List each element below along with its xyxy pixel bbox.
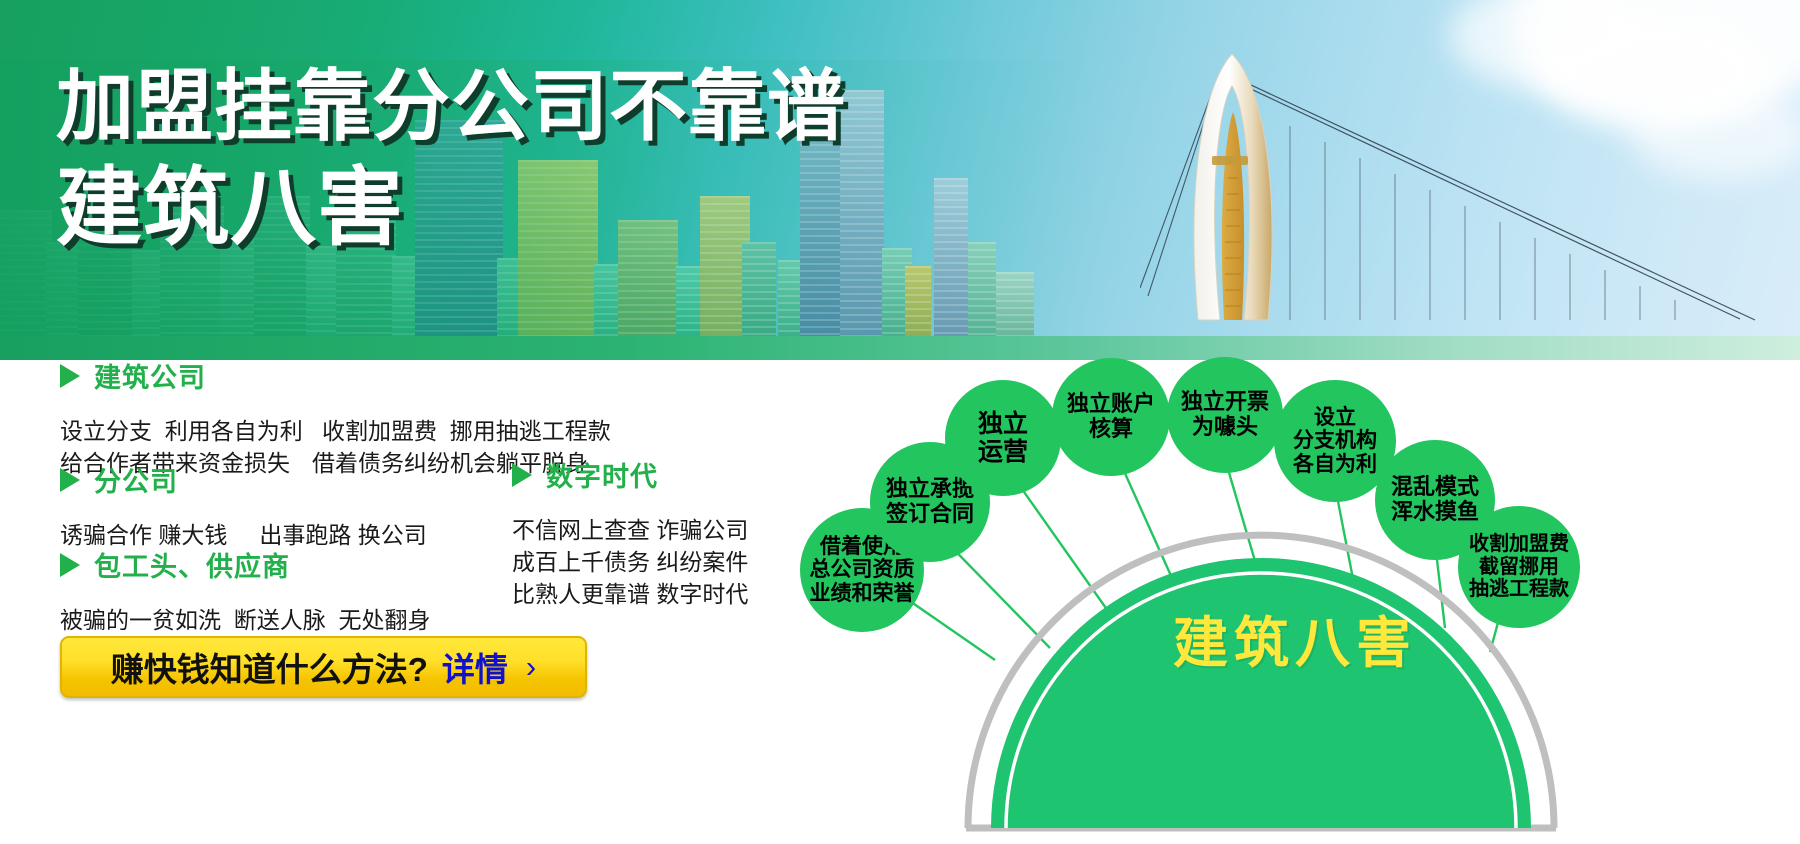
bubble-independent-account[interactable]: 独立账户 核算 [1052,358,1170,476]
bubble-line: 签订合同 [886,502,974,527]
bubble-line: 设立 [1314,406,1356,430]
triangle-bullet-icon [60,468,80,492]
bubble-line: 截留挪用 [1479,556,1559,578]
cta-question-text: 赚快钱知道什么方法? [111,643,428,691]
triangle-bullet-icon [512,463,532,487]
section-line: 成百上千债务 纠纷案件 [512,546,792,578]
section-header: 数字时代 [512,455,792,494]
bubble-line: 浑水摸鱼 [1391,500,1479,525]
triangle-bullet-icon [60,553,80,577]
bridge-illustration [1140,38,1760,338]
bubble-line: 运营 [978,438,1028,466]
bubble-independent-operation[interactable]: 独立 运营 [945,380,1061,496]
hero-title: 加盟挂靠分公司不靠谱 建筑八害 [56,60,846,258]
hero-title-line1: 加盟挂靠分公司不靠谱 [56,60,846,152]
bubble-line: 分支机构 [1293,429,1377,453]
bubble-line: 独立开票 [1181,390,1269,415]
section-title: 数字时代 [546,455,658,494]
bubble-line: 为噱头 [1192,415,1258,440]
section-contractor-supplier: 包工头、供应商 被骗的一贫如洗 断送人脉 无处翻身 [60,545,580,636]
triangle-bullet-icon [60,364,80,388]
section-header: 包工头、供应商 [60,545,580,584]
bubble-line: 各自为利 [1293,453,1377,477]
section-title: 建筑公司 [94,356,206,395]
bubble-line: 总公司资质 [810,558,915,582]
section-digital-era: 数字时代 不信网上查查 诈骗公司 成百上千债务 纠纷案件 比熟人更靠谱 数字时代 [512,455,792,610]
section-title: 分公司 [94,460,178,499]
section-body: 被骗的一贫如洗 断送人脉 无处翻身 [60,604,580,636]
dome-center-label: 建筑八害 [790,598,1800,678]
section-branch-company: 分公司 诱骗合作 赚大钱 出事跑路 换公司 [60,460,520,551]
bubble-line: 抽逃工程款 [1469,578,1569,600]
bubble-line: 核算 [1089,417,1133,442]
bubble-line: 收割加盟费 [1469,533,1569,555]
section-line: 被骗的一贫如洗 断送人脉 无处翻身 [60,604,580,636]
section-header: 分公司 [60,460,520,499]
bubble-line: 业绩和荣誉 [810,582,915,606]
cta-details-link[interactable]: 详情 [442,643,508,691]
bubble-line: 独立账户 [1067,392,1155,417]
hero-title-line2: 建筑八害 [56,158,846,258]
bubble-line: 独立承揽 [886,477,974,502]
section-line: 设立分支 利用各自为利 收割加盟费 挪用抽逃工程款 [60,415,580,447]
bubble-line: 独立 [978,410,1028,438]
bubble-harvest-fees[interactable]: 收割加盟费 截留挪用 抽逃工程款 [1458,506,1580,628]
chevron-right-icon: › [526,649,536,685]
hero-banner: 加盟挂靠分公司不靠谱 建筑八害 [0,0,1800,360]
bubble-independent-invoice[interactable]: 独立开票 为噱头 [1167,357,1283,473]
section-body: 不信网上查查 诈骗公司 成百上千债务 纠纷案件 比熟人更靠谱 数字时代 [512,514,792,610]
section-line: 不信网上查查 诈骗公司 [512,514,792,546]
bubble-line: 混乱模式 [1391,475,1479,500]
left-content-panel: 建筑公司 设立分支 利用各自为利 收割加盟费 挪用抽逃工程款 给合作者带来资金损… [0,360,790,844]
section-header: 建筑公司 [60,356,580,395]
section-line: 比熟人更靠谱 数字时代 [512,578,792,610]
details-cta-button[interactable]: 赚快钱知道什么方法? 详情 › [60,636,587,698]
eight-harms-diagram: 建筑八害 借着使用 总公司资质 业绩和荣誉 独立承揽 签订合同 独立 运营 独立… [790,360,1800,844]
section-title: 包工头、供应商 [94,545,290,584]
